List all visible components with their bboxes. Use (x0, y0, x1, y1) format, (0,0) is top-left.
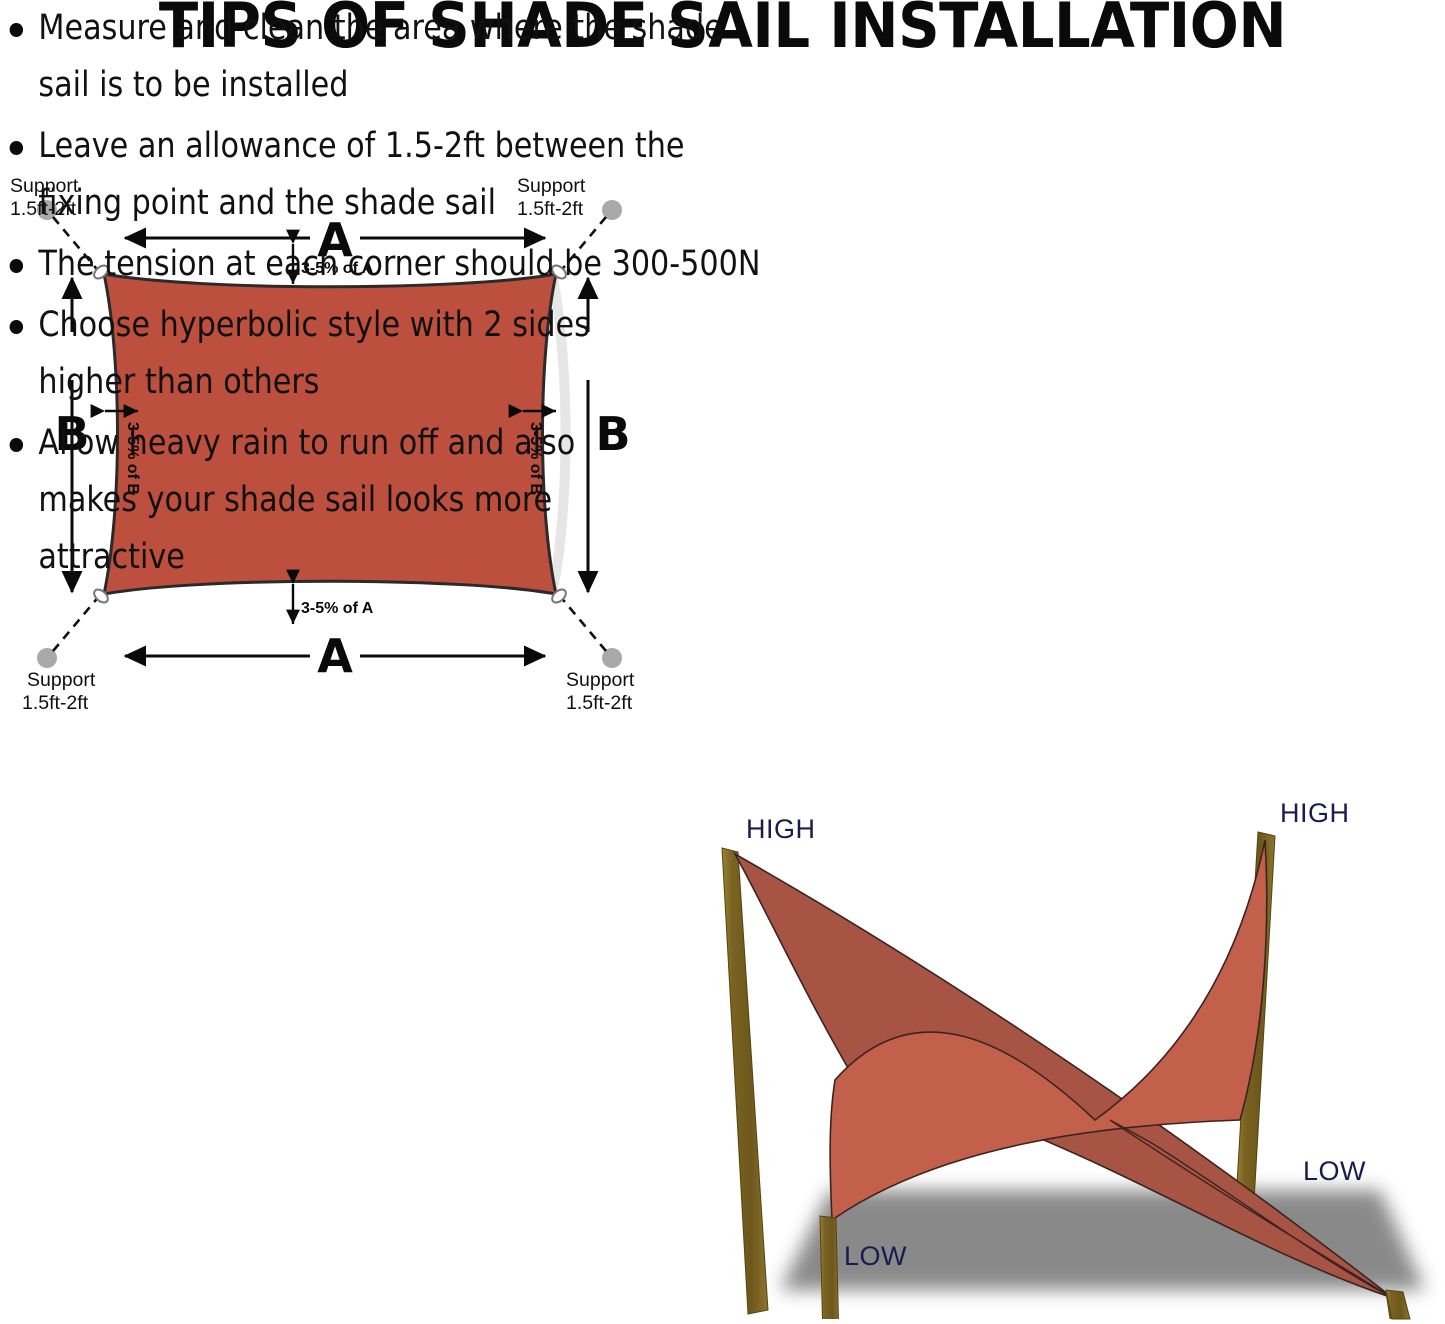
installation-tips-list-right: Measure and clean the area where the sha… (0, 0, 800, 293)
tether-line-bottom-left (53, 595, 100, 651)
list-item: The tension at each corner should be 300… (0, 236, 768, 293)
post-front-right-upper (1386, 1290, 1410, 1319)
dimension-letter-a-bottom: A (317, 629, 353, 683)
curvature-label-bottom: 3-5% of A (301, 600, 374, 617)
list-item: Allow heavy rain to run off and also mak… (0, 415, 600, 586)
label-low-front-right-visible: LOW (1303, 1156, 1366, 1186)
support-label-bottom-left-line1: Support (27, 669, 96, 691)
support-label-bottom-right-line2: 1.5ft-2ft (566, 692, 633, 714)
support-label-bottom-right-line1: Support (566, 669, 635, 691)
support-label-bottom-left-line2: 1.5ft-2ft (22, 692, 89, 714)
list-item: Leave an allowance of 1.5-2ft between th… (0, 118, 768, 232)
list-item: Choose hyperbolic style with 2 sides hig… (0, 297, 600, 411)
installation-tips-list-left: Choose hyperbolic style with 2 sides hig… (0, 297, 625, 586)
tether-line-bottom-right (559, 595, 606, 651)
dimension-letter-b-right: B (595, 407, 630, 461)
list-item: Measure and clean the area where the sha… (0, 0, 768, 114)
post-front-left-cap (820, 1190, 840, 1218)
hyperbolic-sail-foreground-overlay: LOW (680, 790, 1445, 1319)
